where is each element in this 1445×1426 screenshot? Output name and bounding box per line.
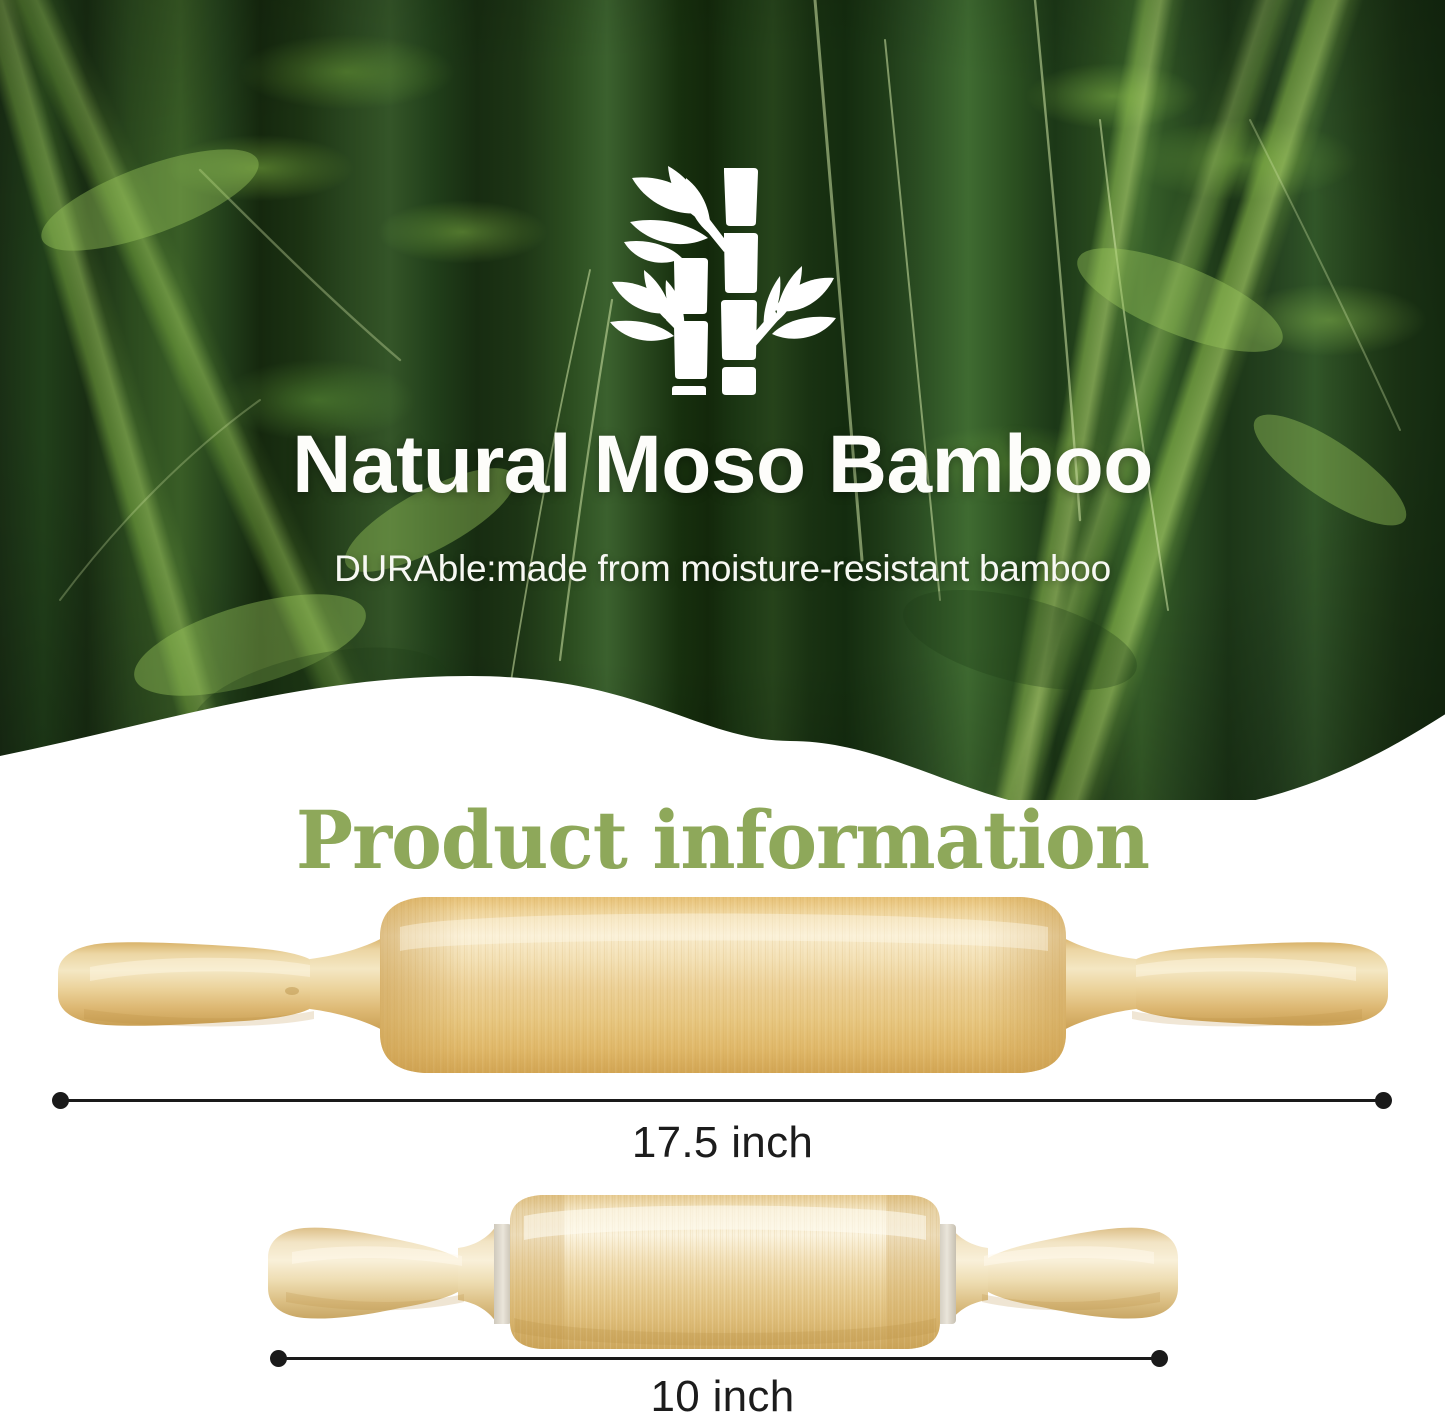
dimension-bar <box>61 1099 1383 1102</box>
large-rolling-pin-image <box>44 893 1402 1083</box>
hero-subtitle: DURAble:made from moisture-resistant bam… <box>0 548 1445 590</box>
section-title: Product information <box>36 800 1409 880</box>
bamboo-logo-icon <box>608 160 838 395</box>
page-title: Natural Moso Bamboo <box>0 424 1445 506</box>
small-rolling-pin-image <box>258 1192 1188 1352</box>
dimension-endpoint-right-icon <box>1375 1092 1392 1109</box>
bamboo-forest-background-image <box>0 0 1445 800</box>
product-infographic: Natural Moso Bamboo DURAble:made from mo… <box>0 0 1445 1426</box>
dimension-bar <box>279 1357 1159 1360</box>
dimension-endpoint-right-icon <box>1151 1350 1168 1367</box>
dimension-line-large <box>52 1090 1392 1110</box>
dimension-label-large: 17.5 inch <box>0 1118 1445 1168</box>
dimension-line-small <box>270 1348 1168 1368</box>
hero-banner: Natural Moso Bamboo DURAble:made from mo… <box>0 0 1445 800</box>
dimension-label-small: 10 inch <box>0 1372 1445 1422</box>
